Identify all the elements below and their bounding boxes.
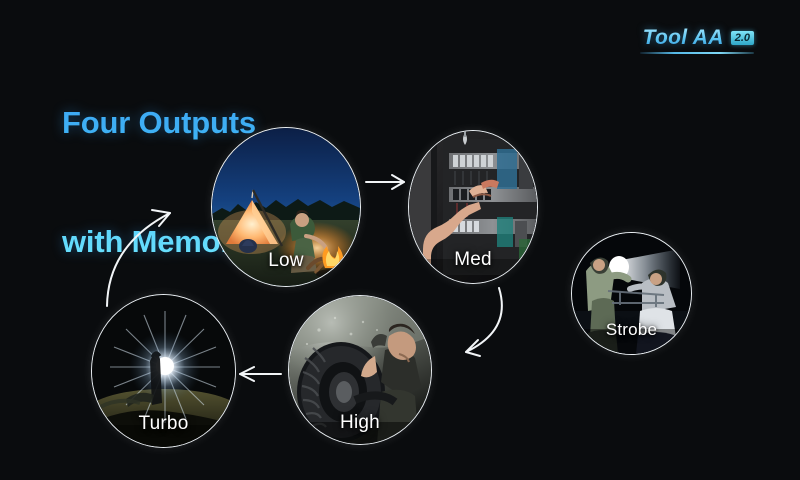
arrow-med-to-high xyxy=(466,288,502,356)
brand-logo: Tool AA 2.0 xyxy=(643,26,754,50)
page-title-line-1: Four Outputs xyxy=(62,103,256,143)
mode-node-turbo[interactable]: Turbo xyxy=(91,294,236,448)
brand-name: Tool AA xyxy=(643,26,724,50)
brand-underline xyxy=(640,52,754,54)
mode-node-low[interactable]: Low xyxy=(211,127,361,287)
mode-node-strobe[interactable]: Strobe xyxy=(571,232,692,355)
arrow-low-to-med xyxy=(366,175,404,189)
arrow-high-to-turbo xyxy=(240,367,281,381)
photo-campsite xyxy=(212,128,360,286)
photo-night-beam xyxy=(92,295,235,447)
product-feature-slide: Four Outputs with Memory Tool AA 2.0 xyxy=(0,0,800,480)
photo-breaker-panel xyxy=(409,131,537,283)
mode-node-med[interactable]: Med xyxy=(408,130,538,284)
photo-tire-inspection xyxy=(289,296,431,444)
mode-node-high[interactable]: High xyxy=(288,295,432,445)
brand-version-badge: 2.0 xyxy=(731,31,754,45)
photo-rescue-strobe xyxy=(572,233,691,354)
